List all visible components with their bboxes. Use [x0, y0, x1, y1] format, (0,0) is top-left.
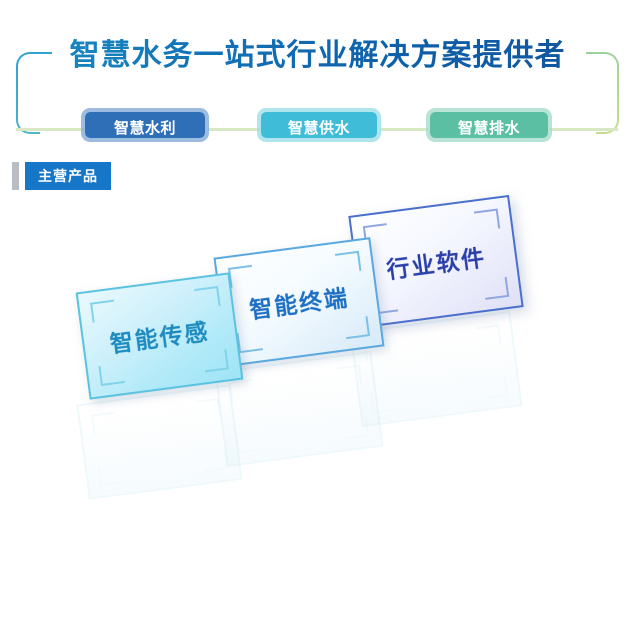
corner-bracket-icon: [98, 363, 124, 386]
product-card-smart-sensing[interactable]: 智能传感: [76, 272, 244, 399]
corner-bracket-icon: [98, 463, 124, 486]
corner-bracket-icon: [229, 379, 255, 402]
pill-label: 智慧供水: [261, 112, 377, 146]
section-banner: 主营产品: [12, 162, 111, 190]
product-card-group: 行业软件 智能终端 智能传感: [0, 190, 635, 448]
category-pill-row: 智慧水利 智慧供水 智慧排水: [0, 108, 635, 150]
section-title: 主营产品: [25, 162, 111, 190]
connector-line-1: [208, 128, 260, 131]
connector-line-right: [550, 128, 618, 131]
corner-bracket-icon: [474, 209, 500, 232]
corner-bracket-icon: [228, 265, 254, 288]
banner-accent-tick: [12, 162, 19, 190]
corner-bracket-icon: [195, 398, 221, 421]
pill-label: 智慧排水: [430, 112, 548, 146]
corner-bracket-icon: [194, 286, 220, 309]
corner-bracket-icon: [90, 300, 116, 323]
corner-bracket-icon: [91, 412, 117, 435]
slide-canvas: 智慧水务一站式行业解决方案提供者 智慧水利 智慧供水 智慧排水 主营产品: [0, 0, 635, 448]
corner-bracket-icon: [343, 416, 369, 439]
corner-bracket-icon: [344, 316, 370, 339]
corner-bracket-icon: [236, 430, 262, 453]
corner-bracket-icon: [237, 330, 263, 353]
corner-bracket-icon: [203, 349, 229, 372]
reflection-fade-overlay: [0, 490, 635, 638]
corner-bracket-icon: [202, 449, 228, 472]
pill-smart-water-conservancy[interactable]: 智慧水利: [81, 108, 209, 142]
corner-bracket-icon: [483, 277, 509, 300]
corner-bracket-icon: [335, 251, 361, 274]
page-title: 智慧水务一站式行业解决方案提供者: [0, 36, 635, 76]
corner-bracket-icon: [336, 365, 362, 388]
corner-bracket-icon: [482, 376, 508, 399]
connector-line-left: [16, 128, 84, 131]
pill-label: 智慧水利: [85, 112, 205, 146]
pill-smart-water-supply[interactable]: 智慧供水: [257, 108, 381, 142]
connector-line-2: [380, 128, 428, 131]
corner-bracket-icon: [475, 324, 501, 347]
pill-smart-drainage[interactable]: 智慧排水: [426, 108, 552, 142]
card-reflection-smart-sensing: [76, 384, 242, 499]
